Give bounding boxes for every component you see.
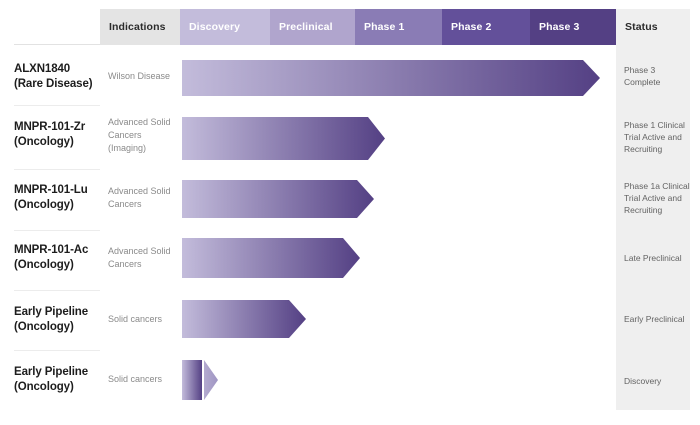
program-name-line2: (Rare Disease) [14, 77, 102, 92]
column-header-preclinical: Preclinical [270, 9, 355, 45]
row-divider [14, 290, 100, 291]
column-header-phase-2-label: Phase 2 [451, 21, 491, 33]
pipeline-chart: Indications Discovery Preclinical Phase … [0, 0, 700, 425]
program-name-line2: (Oncology) [14, 135, 102, 150]
column-header-phase-1-label: Phase 1 [364, 21, 404, 33]
status-text: Early Preclinical [624, 313, 690, 325]
column-header-phase-3: Phase 3 [530, 9, 616, 45]
program-name: Early Pipeline (Oncology) [14, 365, 102, 395]
program-name: MNPR-101-Lu (Oncology) [14, 183, 102, 213]
pipeline-header: Indications Discovery Preclinical Phase … [100, 9, 690, 45]
status-text: Phase 3 Complete [624, 64, 690, 88]
program-name-line1: MNPR-101-Lu [14, 183, 102, 198]
program-name-line2: (Oncology) [14, 198, 102, 213]
program-name-line1: Early Pipeline [14, 365, 102, 380]
row-divider [14, 169, 100, 170]
column-header-phase-3-label: Phase 3 [539, 21, 579, 33]
progress-bar [182, 180, 374, 218]
indication-text: Solid cancers [108, 313, 180, 326]
status-text: Discovery [624, 375, 690, 387]
column-header-phase-2: Phase 2 [442, 9, 530, 45]
program-name-line2: (Oncology) [14, 258, 102, 273]
program-name-line2: (Oncology) [14, 320, 102, 335]
column-header-indications: Indications [100, 9, 180, 45]
program-name: MNPR-101-Zr (Oncology) [14, 120, 102, 150]
indication-text: Solid cancers [108, 373, 180, 386]
program-name-line2: (Oncology) [14, 380, 102, 395]
progress-bar [182, 117, 385, 160]
column-header-indications-label: Indications [109, 21, 166, 33]
progress-bar [182, 360, 202, 400]
row-divider [14, 230, 100, 231]
progress-bar-tip [204, 360, 218, 400]
column-header-preclinical-label: Preclinical [279, 21, 333, 33]
program-name-line1: ALXN1840 [14, 62, 102, 77]
row-divider [14, 105, 100, 106]
status-text: Late Preclinical [624, 252, 690, 264]
status-text: Phase 1a Clinical Trial Active and Recru… [624, 180, 690, 216]
progress-bar [182, 300, 306, 338]
progress-bar [182, 60, 600, 96]
indication-text: Advanced Solid Cancers [108, 245, 180, 271]
status-column-panel [616, 45, 690, 410]
program-name-line1: MNPR-101-Ac [14, 243, 102, 258]
program-name: MNPR-101-Ac (Oncology) [14, 243, 102, 273]
column-header-discovery-label: Discovery [189, 21, 240, 33]
progress-bar [182, 238, 360, 278]
indication-text: Wilson Disease [108, 70, 180, 83]
program-name-line1: Early Pipeline [14, 305, 102, 320]
column-header-phase-1: Phase 1 [355, 9, 442, 45]
column-header-status-label: Status [625, 21, 658, 33]
header-divider [14, 44, 100, 45]
program-name: ALXN1840 (Rare Disease) [14, 62, 102, 92]
indication-text: Advanced Solid Cancers [108, 185, 180, 211]
column-header-discovery: Discovery [180, 9, 270, 45]
program-name-line1: MNPR-101-Zr [14, 120, 102, 135]
program-name: Early Pipeline (Oncology) [14, 305, 102, 335]
status-text: Phase 1 Clinical Trial Active and Recrui… [624, 119, 690, 155]
column-header-status: Status [616, 9, 690, 45]
row-divider [14, 350, 100, 351]
indication-text: Advanced Solid Cancers (Imaging) [108, 116, 180, 155]
